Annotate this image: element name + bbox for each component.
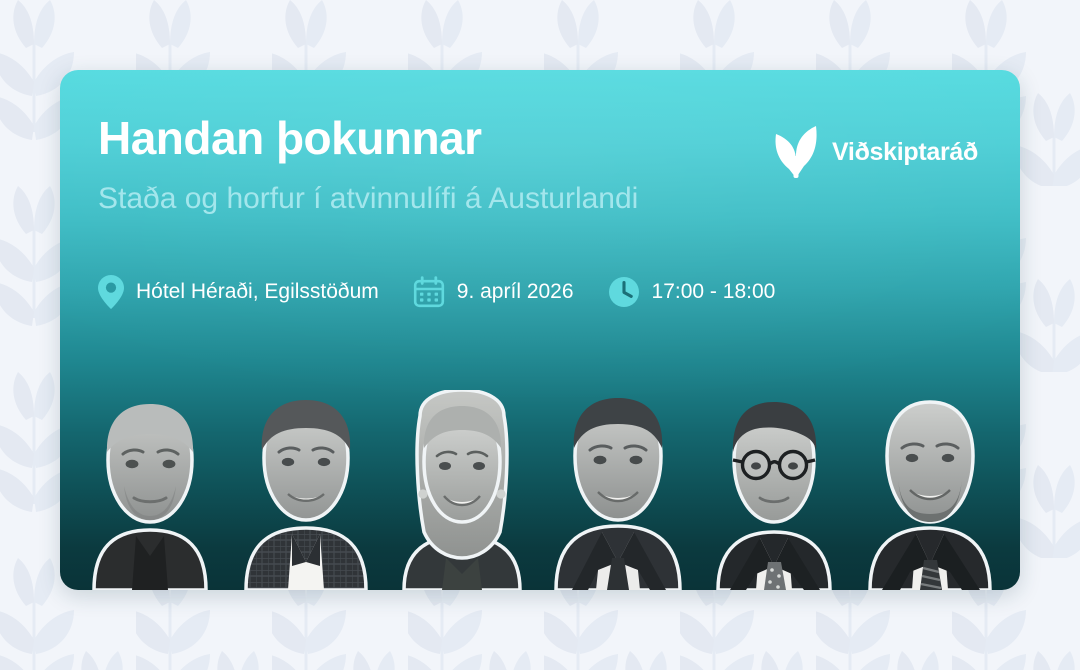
meta-date-label: 9. apríl 2026: [457, 280, 574, 304]
calendar-icon: [413, 276, 445, 308]
event-meta-row: Hótel Héraði, Egilsstöðum: [98, 275, 775, 309]
meta-location-label: Hótel Héraði, Egilsstöðum: [136, 280, 379, 304]
meta-location: Hótel Héraði, Egilsstöðum: [98, 275, 379, 309]
brand-name: Viðskiptaráð: [832, 138, 978, 167]
speaker-portrait-1: [64, 390, 236, 590]
meta-time-label: 17:00 - 18:00: [652, 280, 776, 304]
event-banner-page: Handan þokunnar Staða og horfur í atvinn…: [0, 0, 1080, 670]
speaker-portrait-2: [220, 390, 392, 590]
speaker-portrait-6: [844, 390, 1016, 590]
meta-date: 9. apríl 2026: [413, 276, 574, 308]
page-subtitle: Staða og horfur í atvinnulífi á Austurla…: [98, 181, 982, 217]
brand-logo[interactable]: Viðskiptaráð: [773, 126, 978, 178]
wheat-leaf-logo-icon: [773, 126, 819, 178]
speaker-portrait-3: [376, 390, 548, 590]
meta-time: 17:00 - 18:00: [608, 276, 776, 308]
location-pin-icon: [98, 275, 124, 309]
speaker-portrait-strip: [60, 360, 1020, 590]
clock-icon: [608, 276, 640, 308]
event-card: Handan þokunnar Staða og horfur í atvinn…: [60, 70, 1020, 590]
speaker-portrait-5: [688, 390, 860, 590]
speaker-portrait-4: [532, 390, 704, 590]
